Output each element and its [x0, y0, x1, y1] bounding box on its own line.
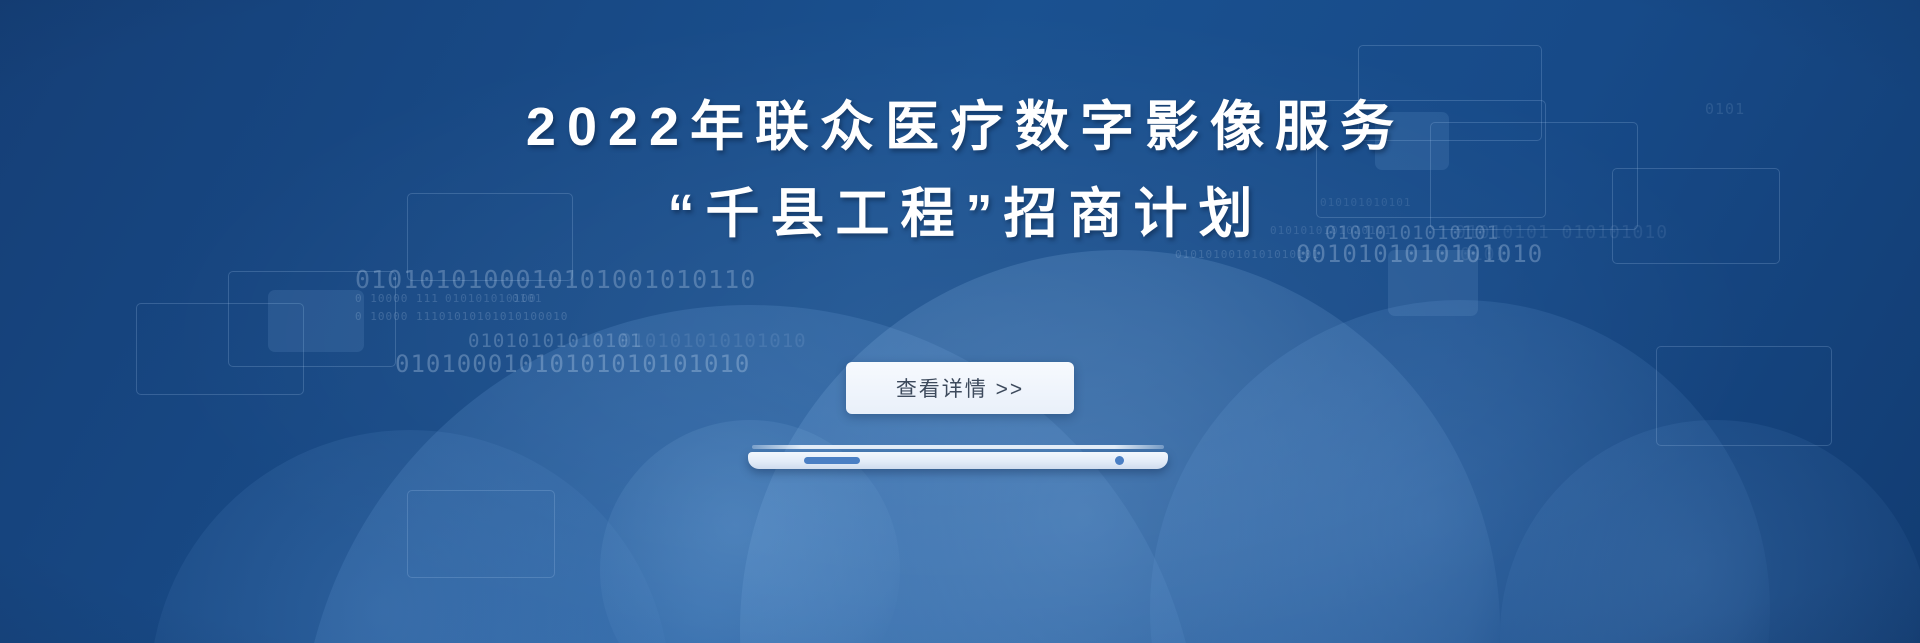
- view-details-button[interactable]: 查看详情 >>: [846, 362, 1074, 414]
- promo-banner: 01010101000101010010101100 10000 1110101…: [0, 0, 1920, 643]
- device-speaker-icon: [804, 457, 860, 464]
- headline-group: 2022年联众医疗数字影像服务 “千县工程”招商计划: [0, 100, 1920, 241]
- cta-row: 查看详情 >>: [0, 362, 1920, 414]
- title-line-2: “千县工程”招商计划: [0, 187, 1920, 241]
- title-line-1: 2022年联众医疗数字影像服务: [0, 100, 1920, 154]
- device-screen-edge: [752, 445, 1164, 449]
- device-indicator-dot: [1115, 456, 1124, 465]
- tablet-device-graphic: [748, 445, 1168, 471]
